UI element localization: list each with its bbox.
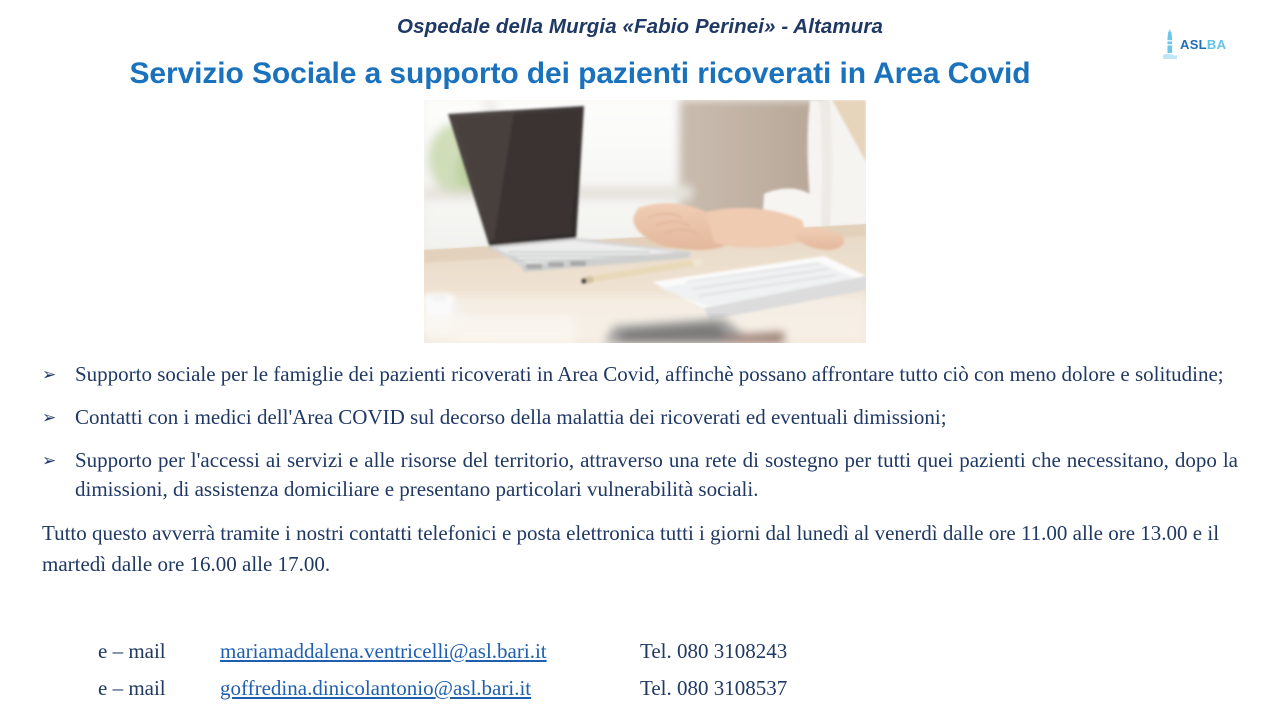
email-label: e – mail	[98, 678, 220, 699]
arrow-bullet-icon: ➢	[42, 360, 75, 387]
phone-number: Tel. 080 3108537	[640, 678, 787, 699]
phone-number: Tel. 080 3108243	[640, 641, 787, 662]
email-label: e – mail	[98, 641, 220, 662]
bullet-item: ➢ Supporto sociale per le famiglie dei p…	[42, 360, 1238, 390]
slide: Ospedale della Murgia «Fabio Perinei» - …	[0, 0, 1280, 720]
arrow-bullet-icon: ➢	[42, 446, 75, 473]
email-link[interactable]: mariamaddalena.ventricelli@asl.bari.it	[220, 641, 640, 662]
hospital-subtitle: Ospedale della Murgia «Fabio Perinei» - …	[0, 15, 1280, 39]
laptop-typing-photo	[424, 100, 866, 343]
aslba-logo-text-primary: ASL	[1180, 37, 1207, 52]
bullet-item-label: Contatti con i medici dell'Area COVID su…	[75, 403, 1238, 433]
contacts-block: e – mail mariamaddalena.ventricelli@asl.…	[98, 641, 1098, 715]
bullet-item-label: Supporto sociale per le famiglie dei paz…	[75, 360, 1238, 390]
bullet-item: ➢ Contatti con i medici dell'Area COVID …	[42, 403, 1238, 433]
schedule-paragraph: Tutto questo avverrà tramite i nostri co…	[42, 518, 1222, 579]
bullet-item: ➢ Supporto per l'accessi ai servizi e al…	[42, 446, 1238, 506]
aslba-tower-icon	[1163, 29, 1177, 59]
aslba-logo: ASLBA	[1163, 27, 1225, 61]
body-content: ➢ Supporto sociale per le famiglie dei p…	[42, 360, 1238, 585]
aslba-logo-text-secondary: BA	[1207, 37, 1226, 52]
bullet-item-label: Supporto per l'accessi ai servizi e alle…	[75, 446, 1238, 506]
arrow-bullet-icon: ➢	[42, 403, 75, 430]
email-link[interactable]: goffredina.dinicolantonio@asl.bari.it	[220, 678, 640, 699]
contact-row: e – mail mariamaddalena.ventricelli@asl.…	[98, 641, 1098, 662]
page-title: Servizio Sociale a supporto dei pazienti…	[0, 57, 1160, 91]
contact-row: e – mail goffredina.dinicolantonio@asl.b…	[98, 678, 1098, 699]
aslba-logo-text: ASLBA	[1180, 38, 1226, 51]
